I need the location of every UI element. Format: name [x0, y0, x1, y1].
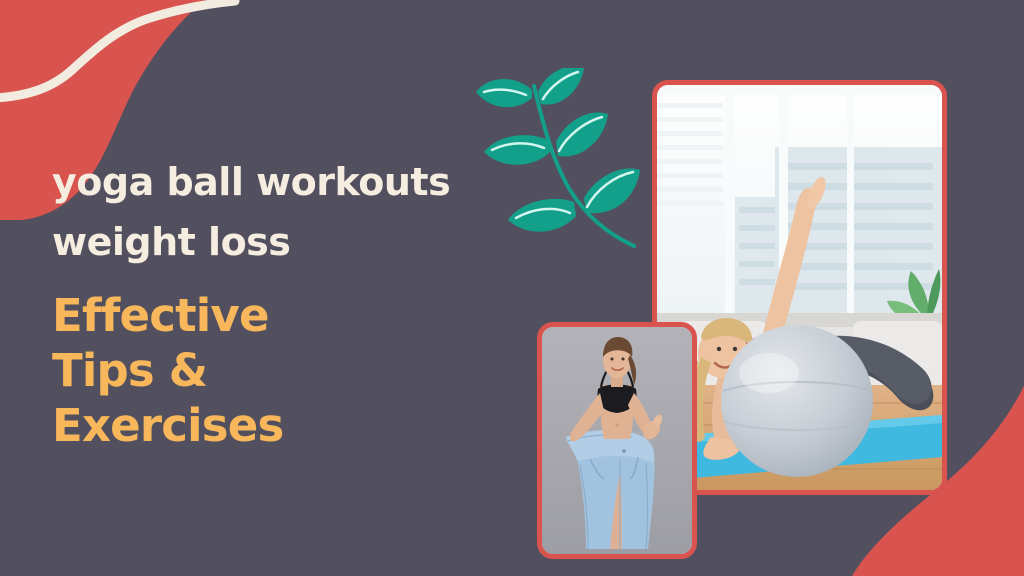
headline-line-2: weight loss	[52, 212, 522, 272]
photo-small-inner	[542, 327, 692, 554]
headline-line-1: yoga ball workouts	[52, 152, 522, 212]
photo-main-illustration	[657, 85, 942, 490]
subheadline-line-3: Exercises	[52, 398, 522, 453]
photo-main-inner	[657, 85, 942, 490]
exercise-ball	[721, 325, 873, 477]
subheadline-line-1: Effective	[52, 288, 522, 343]
subheadline-line-2: Tips &	[52, 343, 522, 398]
headline-group: yoga ball workouts weight loss Effective…	[52, 152, 522, 453]
photo-small-illustration	[542, 327, 692, 554]
banner-canvas: yoga ball workouts weight loss Effective…	[0, 0, 1024, 576]
photo-woman-with-oversized-jeans	[537, 322, 697, 559]
subheadline-group: Effective Tips & Exercises	[52, 288, 522, 453]
